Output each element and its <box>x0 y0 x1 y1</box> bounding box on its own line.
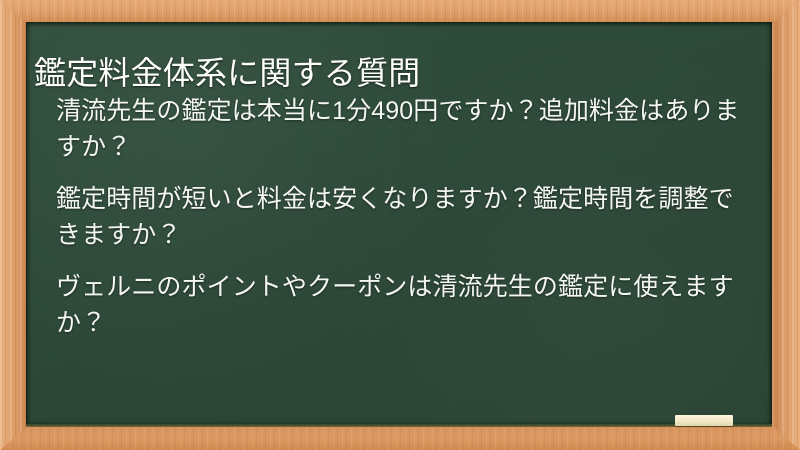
board-bottom-seam <box>26 424 772 427</box>
frame-right-rail <box>772 0 800 450</box>
frame-bottom-ledge <box>0 426 800 450</box>
chalkboard-frame: 鑑定料金体系に関する質問 清流先生の鑑定は本当に1分490円ですか？追加料金はあ… <box>0 0 800 450</box>
frame-top-rail <box>0 0 800 24</box>
list-item: ヴェルニのポイントやクーポンは清流先生の鑑定に使えますか？ <box>56 270 752 341</box>
chalk-stick-icon <box>675 415 733 426</box>
list-item: 清流先生の鑑定は本当に1分490円ですか？追加料金はありますか？ <box>56 94 752 165</box>
page-title: 鑑定料金体系に関する質問 <box>34 53 758 94</box>
list-item: 鑑定時間が短いと料金は安くなりますか？鑑定時間を調整できますか？ <box>56 182 752 253</box>
frame-left-rail <box>0 0 28 450</box>
chalkboard-surface: 鑑定料金体系に関する質問 清流先生の鑑定は本当に1分490円ですか？追加料金はあ… <box>26 22 772 426</box>
question-list: 清流先生の鑑定は本当に1分490円ですか？追加料金はありますか？ 鑑定時間が短い… <box>56 94 752 341</box>
